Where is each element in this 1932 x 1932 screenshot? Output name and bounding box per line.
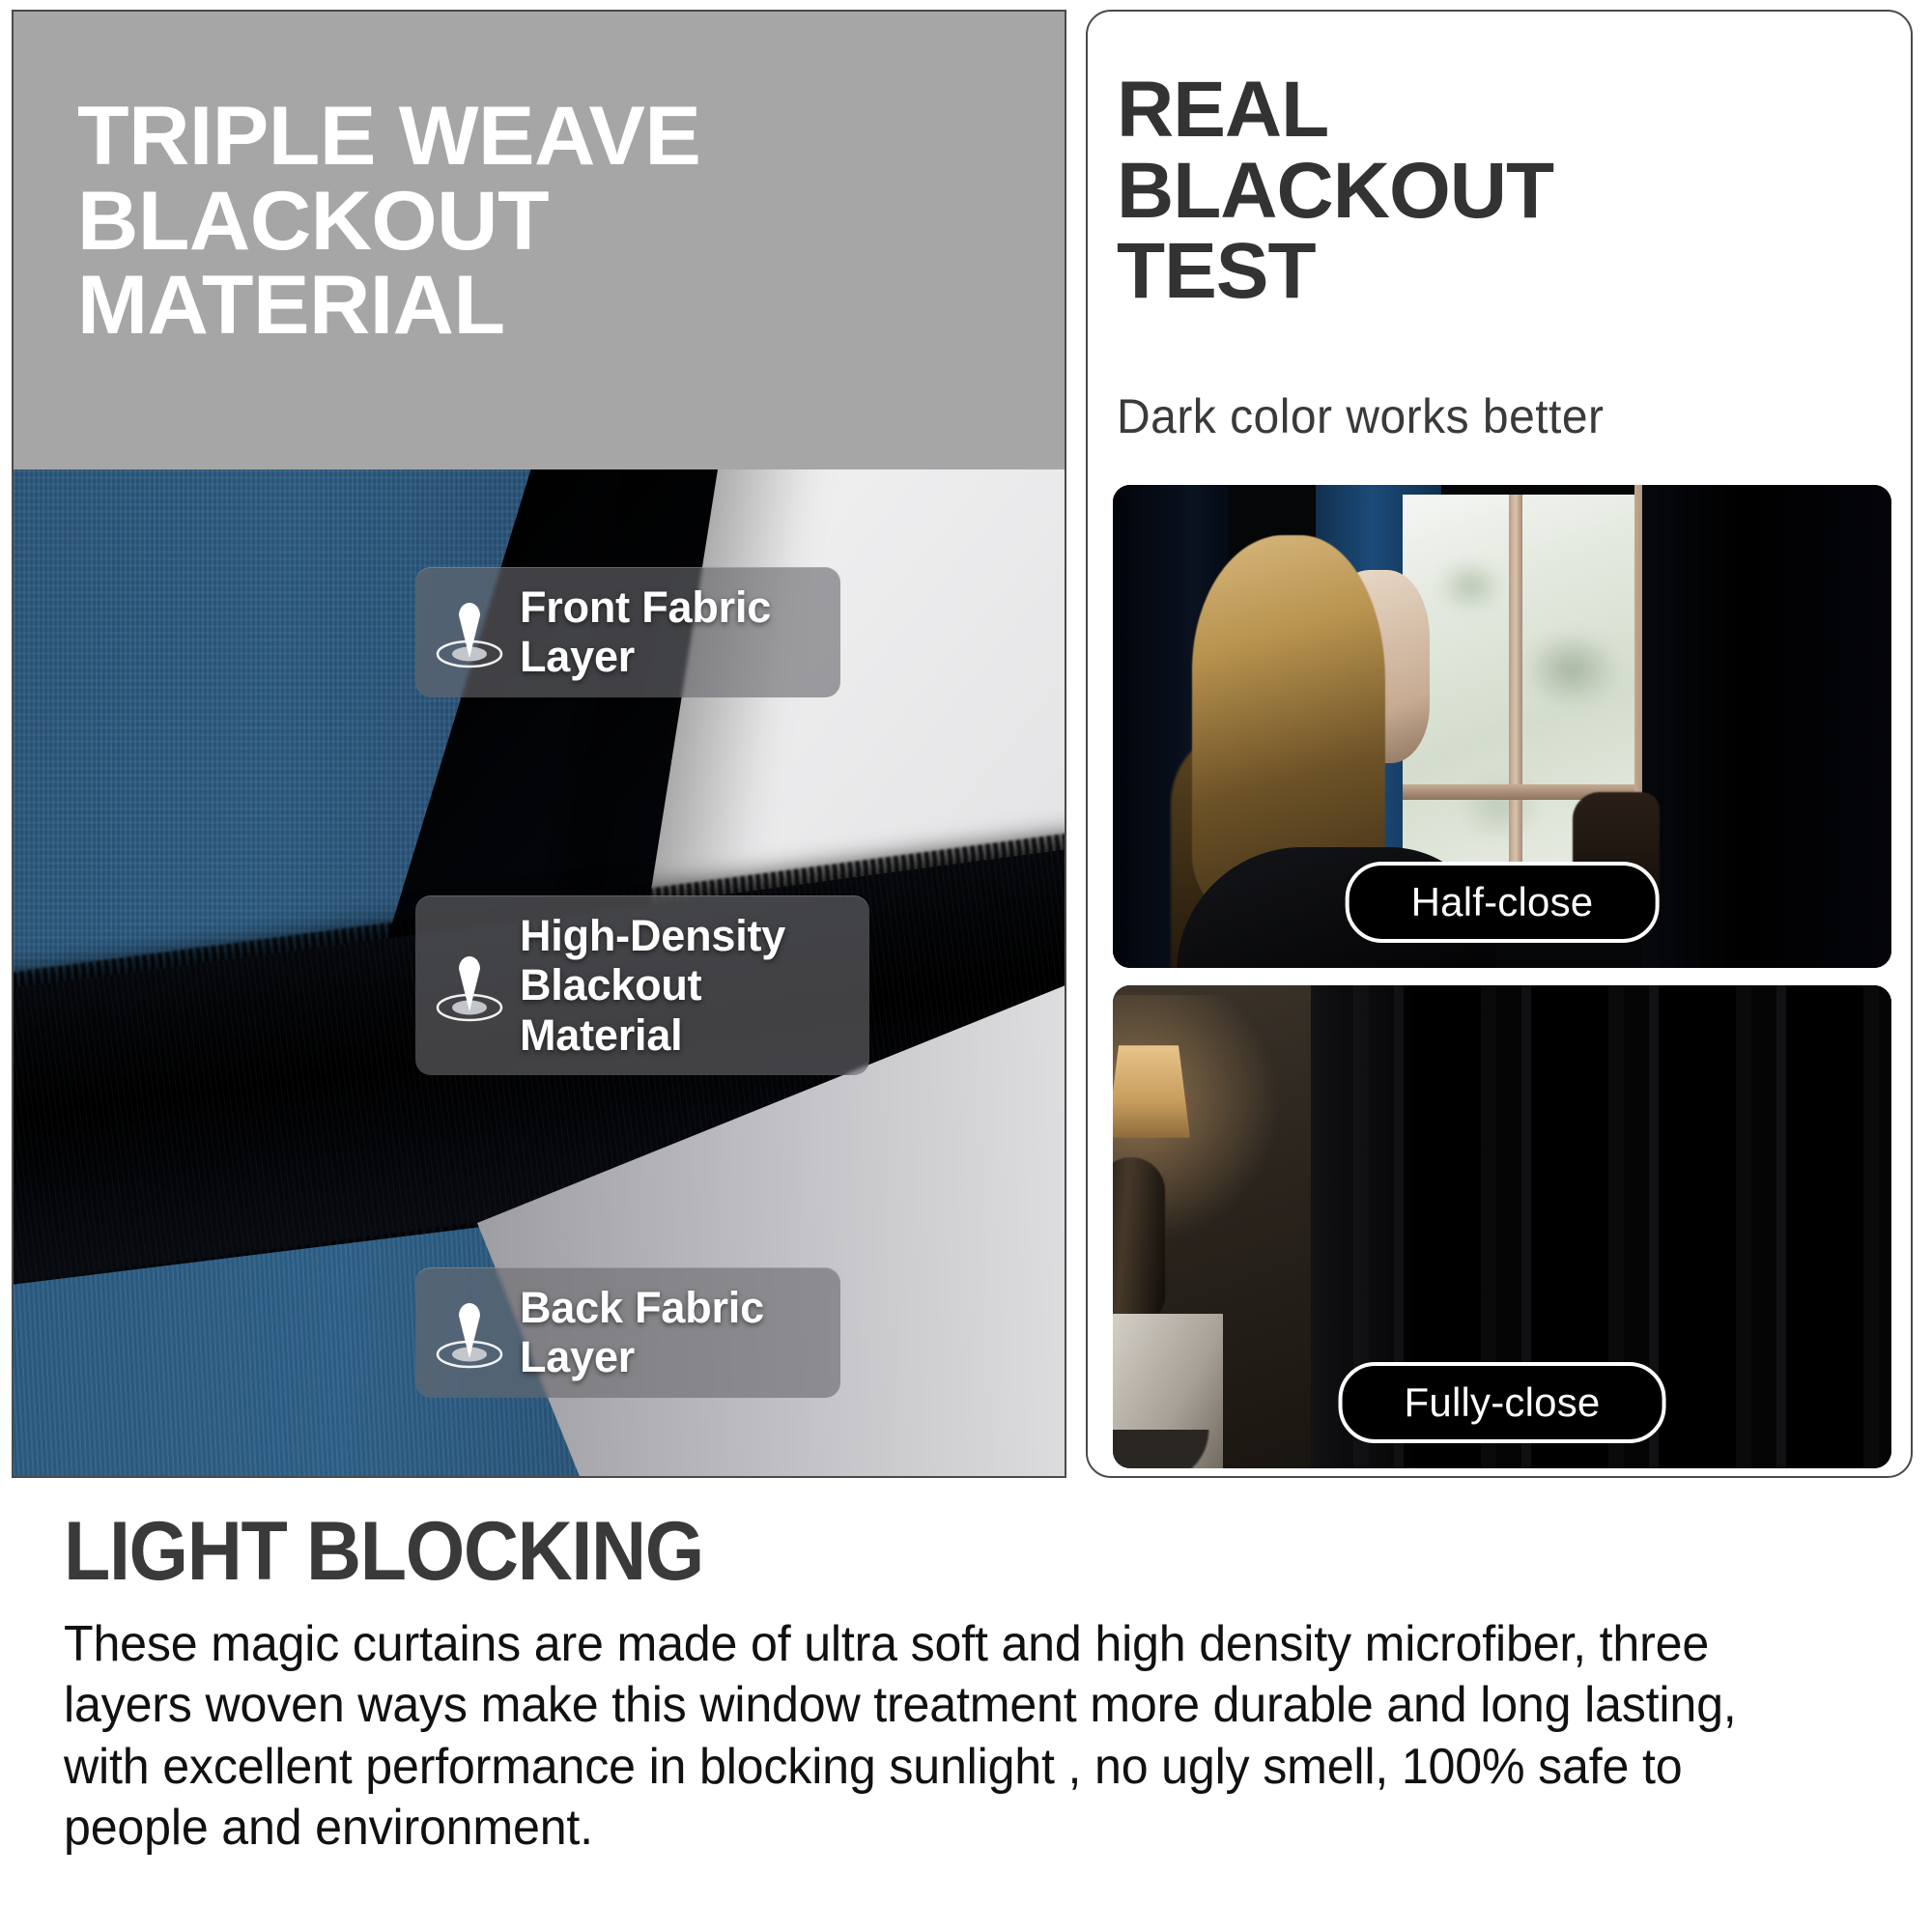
photo-fully-close: Fully-close — [1113, 985, 1891, 1468]
scene-window-mullion-vertical — [1509, 495, 1522, 910]
right-panel: REAL BLACKOUT TEST Dark color works bett… — [1086, 10, 1913, 1478]
top-row: TRIPLE WEAVE BLACKOUT MATERIAL — [0, 0, 1932, 1483]
scene-table-arch — [1113, 1430, 1229, 1468]
scene-lamp-shade — [1113, 1045, 1190, 1138]
badge-half-close[interactable]: Half-close — [1346, 862, 1660, 943]
label-text: Front Fabric Layer — [520, 582, 815, 682]
pin-icon — [435, 594, 504, 669]
bottom-title: LIGHT BLOCKING — [64, 1510, 1724, 1593]
bottom-section: LIGHT BLOCKING These magic curtains are … — [0, 1492, 1932, 1932]
label-text: Back Fabric Layer — [520, 1283, 815, 1382]
right-panel-subtitle: Dark color works better — [1117, 388, 1859, 444]
photo-half-close: Half-close — [1113, 485, 1891, 968]
left-panel: TRIPLE WEAVE BLACKOUT MATERIAL — [12, 10, 1066, 1478]
pin-icon — [435, 948, 504, 1023]
pin-icon — [435, 1294, 504, 1370]
label-back-fabric-layer[interactable]: Back Fabric Layer — [415, 1267, 840, 1398]
label-text: High-Density Blackout Material — [520, 911, 844, 1060]
bottom-body-text: These magic curtains are made of ultra s… — [64, 1614, 1805, 1860]
left-panel-title: TRIPLE WEAVE BLACKOUT MATERIAL — [77, 95, 1023, 349]
badge-fully-close[interactable]: Fully-close — [1339, 1362, 1666, 1443]
scene-right-curtain — [1642, 485, 1891, 968]
right-panel-title: REAL BLACKOUT TEST — [1117, 70, 1889, 312]
infographic-page: TRIPLE WEAVE BLACKOUT MATERIAL — [0, 0, 1932, 1932]
label-front-fabric-layer[interactable]: Front Fabric Layer — [415, 567, 840, 697]
scene-vase — [1113, 1157, 1165, 1321]
label-high-density-blackout-material[interactable]: High-Density Blackout Material — [415, 895, 869, 1075]
